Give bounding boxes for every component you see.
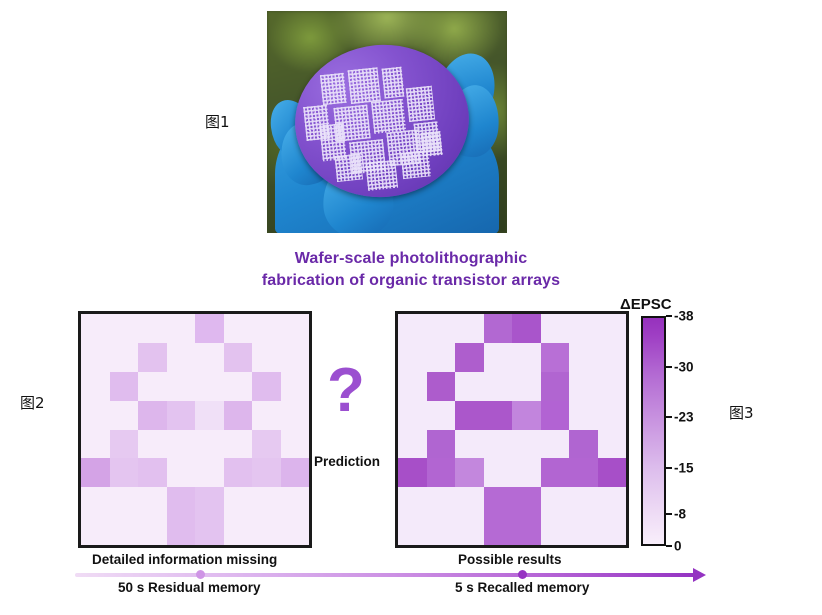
heatmap-cell: [224, 343, 253, 372]
heatmap-cell: [512, 343, 541, 372]
heatmap-cell: [569, 458, 598, 487]
heatmap-cell: [138, 487, 167, 516]
heatmap-cell: [224, 372, 253, 401]
timeline-sublabel-left: 50 s Residual memory: [118, 580, 261, 595]
heatmap-cell: [138, 401, 167, 430]
heatmap-cell: [167, 430, 196, 459]
heatmap-recalled-memory: [395, 311, 629, 548]
heatmap-cell: [398, 516, 427, 545]
heatmap-cell: [455, 516, 484, 545]
heatmap-cell: [281, 343, 310, 372]
transistor-die: [371, 99, 406, 134]
heatmap-cell: [167, 372, 196, 401]
heatmap-cell: [598, 314, 627, 343]
colorbar-tick-mark: [666, 366, 672, 368]
heatmap-cell: [484, 343, 513, 372]
heatmap-cell: [427, 314, 456, 343]
colorbar-tick-label: -38: [674, 309, 694, 324]
transistor-die: [406, 86, 435, 123]
heatmap-cell: [541, 516, 570, 545]
heatmap-cell: [569, 372, 598, 401]
heatmap-cell: [281, 430, 310, 459]
heatmap-cell: [195, 343, 224, 372]
heatmap-cell: [398, 372, 427, 401]
heatmap-cell: [484, 430, 513, 459]
heatmap-cell: [484, 401, 513, 430]
heatmap-cell: [569, 430, 598, 459]
heatmap-cell: [167, 343, 196, 372]
heatmap-cell: [398, 458, 427, 487]
timeline-dot-residual: [196, 570, 205, 579]
heatmap-cell: [81, 372, 110, 401]
colorbar-tick-mark: [666, 513, 672, 515]
heatmap-cell: [455, 401, 484, 430]
heatmap-cell: [167, 487, 196, 516]
heatmap-residual-memory: [78, 311, 312, 548]
heatmap-cell: [138, 458, 167, 487]
heatmap-cell: [81, 401, 110, 430]
heatmap-cell: [167, 314, 196, 343]
figure-tag-2: 图2: [20, 392, 45, 413]
heatmap-cell: [512, 401, 541, 430]
heatmap-cell: [110, 314, 139, 343]
heatmap-cell: [138, 516, 167, 545]
heatmap-cell: [427, 487, 456, 516]
heatmap-cell: [281, 458, 310, 487]
heatmap-cell: [598, 430, 627, 459]
caption-line-1: Wafer-scale photolithographic: [0, 248, 822, 270]
heatmap-cell: [455, 487, 484, 516]
heatmap-cell: [252, 430, 281, 459]
heatmap-cell: [398, 314, 427, 343]
heatmap-cell: [569, 343, 598, 372]
heatmap-cell: [541, 372, 570, 401]
heatmap-cell: [252, 487, 281, 516]
heatmap-cell: [541, 430, 570, 459]
heatmap-cell: [224, 314, 253, 343]
heatmap-cell: [512, 430, 541, 459]
heatmap-cell: [427, 516, 456, 545]
heatmap-cell: [195, 430, 224, 459]
heatmap-cell: [281, 314, 310, 343]
heatmap-cell: [195, 487, 224, 516]
transistor-die: [365, 160, 398, 191]
heatmap-cell: [598, 516, 627, 545]
heatmap-cell: [224, 401, 253, 430]
transistor-die: [320, 73, 347, 105]
heatmap-cell: [252, 401, 281, 430]
heatmap-cell: [569, 516, 598, 545]
heatmap-cell: [167, 516, 196, 545]
heatmap-cell: [512, 458, 541, 487]
transistor-die: [382, 67, 405, 99]
heatmap-cell: [195, 458, 224, 487]
colorbar-tick-label: -30: [674, 359, 694, 374]
heatmap-cell: [110, 458, 139, 487]
colorbar-tick-mark: [666, 416, 672, 418]
heatmap-cell: [138, 343, 167, 372]
heatmap-cell: [281, 401, 310, 430]
heatmap-cell: [541, 401, 570, 430]
heatmap-cell: [252, 458, 281, 487]
heatmap-cell: [224, 487, 253, 516]
heatmap-cell: [195, 372, 224, 401]
heatmap-cell: [110, 401, 139, 430]
heatmap-cell: [195, 401, 224, 430]
heatmap-cell: [81, 314, 110, 343]
heatmap-cell: [398, 343, 427, 372]
heatmap-cell: [110, 516, 139, 545]
heatmap-cell: [541, 314, 570, 343]
timeline-sublabel-right: 5 s Recalled memory: [455, 580, 589, 595]
heatmap-cell: [195, 314, 224, 343]
heatmap-cell: [138, 372, 167, 401]
wafer-photograph: [267, 11, 507, 233]
prediction-label: Prediction: [314, 454, 380, 469]
heatmap-cell: [398, 401, 427, 430]
heatmap-cell: [110, 343, 139, 372]
colorbar-tick-label: -23: [674, 410, 694, 425]
heatmap-cell: [541, 487, 570, 516]
heatmap-cell: [224, 430, 253, 459]
heatmap-cell: [455, 430, 484, 459]
heatmap-cell: [252, 516, 281, 545]
heatmap-cell: [427, 343, 456, 372]
heatmap-cell: [484, 487, 513, 516]
heatmap-cell: [81, 430, 110, 459]
transistor-die: [334, 153, 363, 182]
heatmap-cell: [110, 487, 139, 516]
heatmap-cell: [598, 343, 627, 372]
heatmap-cell: [484, 516, 513, 545]
heatmap-cell: [281, 516, 310, 545]
heatmap-cell: [427, 372, 456, 401]
heatmap-cell: [81, 458, 110, 487]
heatmap-cell: [224, 458, 253, 487]
heatmap-cell: [398, 430, 427, 459]
heatmap-cell: [81, 516, 110, 545]
timeline-axis: [75, 573, 695, 577]
timeline-dot-recalled: [518, 570, 527, 579]
figure-tag-3: 图3: [729, 402, 754, 423]
heatmap-cell: [81, 487, 110, 516]
transistor-die: [420, 131, 442, 157]
heatmap-cell: [512, 372, 541, 401]
heatmap-cell: [598, 458, 627, 487]
colorbar-tick-mark: [666, 315, 672, 317]
heatmap-right-label: Possible results: [458, 552, 562, 567]
heatmap-cell: [110, 372, 139, 401]
colorbar-tick-mark: [666, 545, 672, 547]
heatmap-cell: [427, 430, 456, 459]
heatmap-cell: [281, 372, 310, 401]
figure-caption: Wafer-scale photolithographic fabricatio…: [0, 248, 822, 292]
figure-tag-1: 图1: [205, 111, 230, 132]
heatmap-cell: [224, 516, 253, 545]
heatmap-cell: [281, 487, 310, 516]
colorbar-title: ΔEPSC: [620, 296, 672, 313]
heatmap-cell: [167, 401, 196, 430]
heatmap-cell: [138, 430, 167, 459]
question-mark-icon: ?: [327, 360, 363, 422]
heatmap-cell: [484, 314, 513, 343]
heatmap-cell: [455, 314, 484, 343]
heatmap-cell: [512, 487, 541, 516]
heatmap-cell: [138, 314, 167, 343]
heatmap-cell: [398, 487, 427, 516]
heatmap-cell: [541, 458, 570, 487]
heatmap-cell: [484, 458, 513, 487]
heatmap-cell: [427, 458, 456, 487]
heatmap-cell: [110, 430, 139, 459]
heatmap-cell: [598, 401, 627, 430]
caption-line-2: fabrication of organic transistor arrays: [0, 270, 822, 292]
heatmap-cell: [252, 343, 281, 372]
heatmap-cell: [569, 487, 598, 516]
colorbar-tick-label: 0: [674, 539, 682, 554]
transistor-die: [348, 67, 381, 104]
heatmap-cell: [81, 343, 110, 372]
heatmap-cell: [167, 458, 196, 487]
heatmap-cell: [598, 372, 627, 401]
heatmap-cell: [541, 343, 570, 372]
colorbar-tick-label: -8: [674, 506, 686, 521]
heatmap-cell: [455, 343, 484, 372]
heatmap-cell: [569, 314, 598, 343]
colorbar-gradient: [641, 316, 666, 546]
heatmap-cell: [455, 372, 484, 401]
heatmap-cell: [252, 314, 281, 343]
heatmap-left-label: Detailed information missing: [92, 552, 277, 567]
heatmap-cell: [512, 314, 541, 343]
heatmap-cell: [512, 516, 541, 545]
heatmap-cell: [484, 372, 513, 401]
heatmap-cell: [569, 401, 598, 430]
colorbar-tick-label: -15: [674, 460, 694, 475]
heatmap-cell: [195, 516, 224, 545]
arrow-head-icon: [693, 568, 706, 582]
heatmap-cell: [427, 401, 456, 430]
heatmap-cell: [455, 458, 484, 487]
colorbar-tick-mark: [666, 467, 672, 469]
figure-page: Wafer-scale photolithographic fabricatio…: [0, 0, 822, 615]
heatmap-cell: [598, 487, 627, 516]
heatmap-cell: [252, 372, 281, 401]
